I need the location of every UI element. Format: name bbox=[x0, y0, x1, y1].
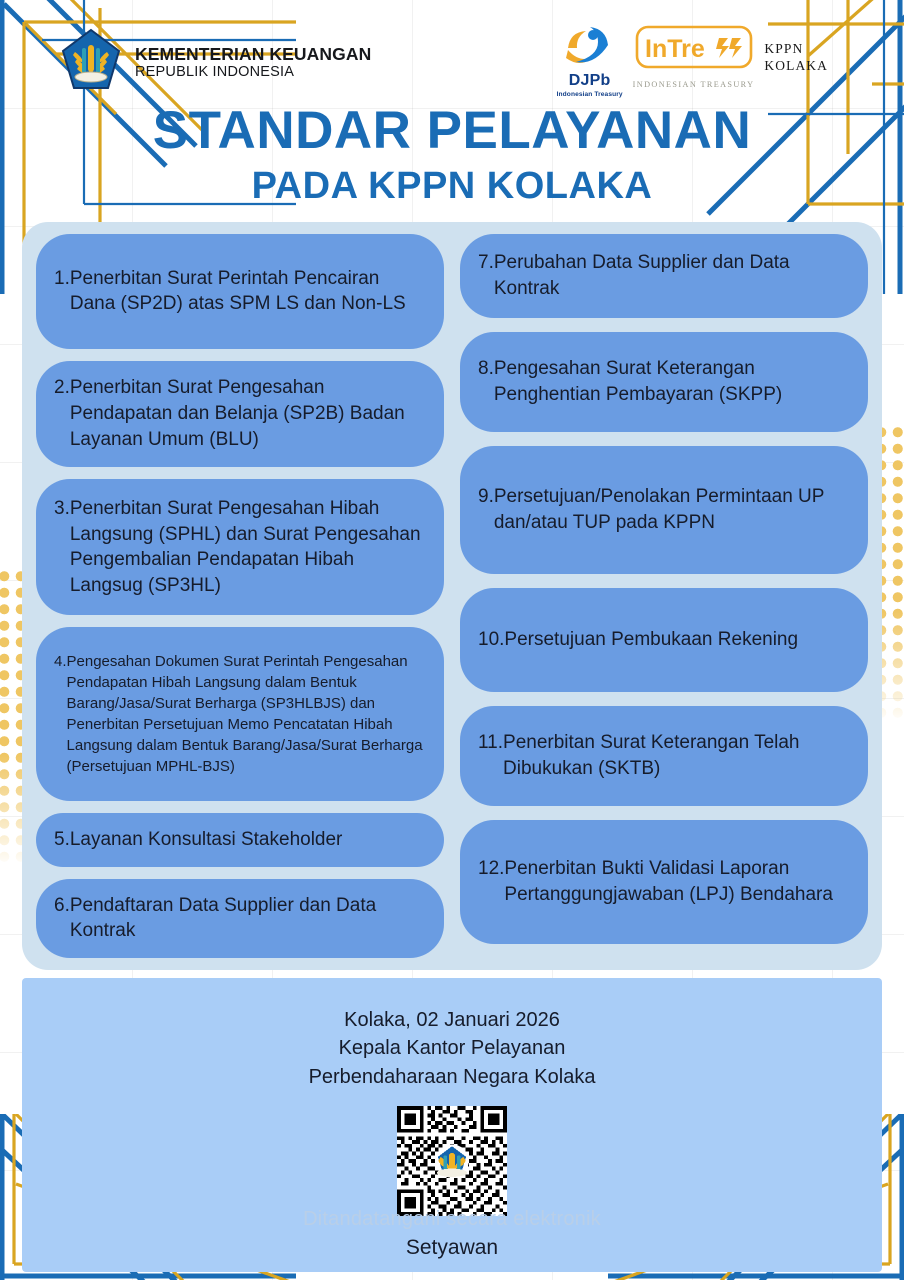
service-label: Penerbitan Surat Pengesahan Pendapatan d… bbox=[70, 375, 428, 452]
service-label: Pendaftaran Data Supplier dan Data Kontr… bbox=[70, 893, 428, 944]
service-label: Pengesahan Surat Keterangan Penghentian … bbox=[494, 356, 852, 407]
right-logos-block: DJPb Indonesian Treasury InTre INDONESIA… bbox=[557, 24, 828, 98]
service-label: Penerbitan Bukti Validasi Laporan Pertan… bbox=[504, 856, 852, 907]
service-label: Penerbitan Surat Keterangan Telah Dibuku… bbox=[503, 730, 852, 781]
service-label: Perubahan Data Supplier dan Data Kontrak bbox=[494, 250, 852, 301]
intress-logo-block: InTre INDONESIAN TREASURY bbox=[633, 24, 755, 89]
signature-note: Ditandatangani secara elektronik bbox=[0, 1208, 904, 1231]
footer-place-date: Kolaka, 02 Januari 2026 bbox=[0, 1006, 904, 1034]
service-number: 3. bbox=[54, 496, 70, 522]
svg-text:InTre: InTre bbox=[645, 35, 705, 63]
service-number: 11. bbox=[478, 730, 503, 756]
services-column-right: 7. Perubahan Data Supplier dan Data Kont… bbox=[460, 234, 868, 958]
djpb-wordmark: DJPb bbox=[569, 72, 611, 90]
intress-wordmark-icon: InTre bbox=[635, 24, 753, 77]
service-item-1[interactable]: 1. Penerbitan Surat Perintah Pencairan D… bbox=[36, 234, 444, 349]
title-sub: PADA KPPN KOLAKA bbox=[0, 167, 904, 205]
service-label: Pengesahan Dokumen Surat Perintah Penges… bbox=[67, 651, 428, 777]
service-label: Layanan Konsultasi Stakeholder bbox=[70, 827, 343, 853]
service-number: 9. bbox=[478, 484, 494, 510]
service-number: 10. bbox=[478, 627, 504, 653]
services-columns: 1. Penerbitan Surat Perintah Pencairan D… bbox=[22, 222, 882, 970]
service-item-12[interactable]: 12. Penerbitan Bukti Validasi Laporan Pe… bbox=[460, 820, 868, 944]
service-number: 5. bbox=[54, 827, 70, 853]
poster-root: KEMENTERIAN KEUANGAN REPUBLIK INDONESIA … bbox=[0, 0, 904, 1280]
kppn-label-line-2: KOLAKA bbox=[764, 57, 828, 74]
service-item-10[interactable]: 10. Persetujuan Pembukaan Rekening bbox=[460, 588, 868, 692]
intress-subtext: INDONESIAN TREASURY bbox=[633, 80, 755, 89]
service-label: Penerbitan Surat Pengesahan Hibah Langsu… bbox=[70, 496, 428, 599]
service-item-8[interactable]: 8. Pengesahan Surat Keterangan Penghenti… bbox=[460, 332, 868, 432]
service-number: 7. bbox=[478, 250, 494, 276]
footer-office-line-1: Kepala Kantor Pelayanan bbox=[0, 1034, 904, 1062]
title-main: STANDAR PELAYANAN bbox=[0, 104, 904, 157]
services-column-left: 1. Penerbitan Surat Perintah Pencairan D… bbox=[36, 234, 444, 958]
service-number: 8. bbox=[478, 356, 494, 382]
service-item-11[interactable]: 11. Penerbitan Surat Keterangan Telah Di… bbox=[460, 706, 868, 806]
djpb-swoosh-icon bbox=[562, 24, 618, 71]
kppn-kolaka-label: KPPN KOLAKA bbox=[764, 40, 828, 75]
service-label: Persetujuan/Penolakan Permintaan UP dan/… bbox=[494, 484, 852, 535]
service-item-4[interactable]: 4. Pengesahan Dokumen Surat Perintah Pen… bbox=[36, 627, 444, 801]
footer-address-block: Kolaka, 02 Januari 2026 Kepala Kantor Pe… bbox=[0, 1006, 904, 1091]
service-number: 1. bbox=[54, 266, 70, 292]
qr-code-icon[interactable] bbox=[397, 1106, 507, 1216]
service-label: Penerbitan Surat Perintah Pencairan Dana… bbox=[70, 266, 428, 317]
service-item-2[interactable]: 2. Penerbitan Surat Pengesahan Pendapata… bbox=[36, 361, 444, 468]
djpb-subtext: Indonesian Treasury bbox=[557, 91, 623, 98]
page-title: STANDAR PELAYANAN PADA KPPN KOLAKA bbox=[0, 104, 904, 205]
service-number: 6. bbox=[54, 893, 70, 919]
kppn-label-line-1: KPPN bbox=[764, 40, 828, 57]
service-item-7[interactable]: 7. Perubahan Data Supplier dan Data Kont… bbox=[460, 234, 868, 318]
service-item-3[interactable]: 3. Penerbitan Surat Pengesahan Hibah Lan… bbox=[36, 479, 444, 615]
kemenkeu-line-1: KEMENTERIAN KEUANGAN bbox=[135, 44, 371, 65]
garuda-padi-kapas-emblem-icon bbox=[60, 28, 122, 97]
kemenkeu-logo-block: KEMENTERIAN KEUANGAN REPUBLIK INDONESIA bbox=[60, 28, 371, 97]
djpb-logo-block: DJPb Indonesian Treasury bbox=[557, 24, 623, 98]
service-number: 12. bbox=[478, 856, 504, 882]
service-number: 4. bbox=[54, 651, 67, 672]
kemenkeu-line-2: REPUBLIK INDONESIA bbox=[135, 64, 371, 81]
service-item-5[interactable]: 5. Layanan Konsultasi Stakeholder bbox=[36, 813, 444, 867]
service-number: 2. bbox=[54, 375, 70, 401]
service-item-6[interactable]: 6. Pendaftaran Data Supplier dan Data Ko… bbox=[36, 879, 444, 958]
service-label: Persetujuan Pembukaan Rekening bbox=[504, 627, 798, 653]
footer-office-line-2: Perbendaharaan Negara Kolaka bbox=[0, 1063, 904, 1091]
signer-name: Setyawan bbox=[0, 1236, 904, 1260]
service-item-9[interactable]: 9. Persetujuan/Penolakan Permintaan UP d… bbox=[460, 446, 868, 574]
